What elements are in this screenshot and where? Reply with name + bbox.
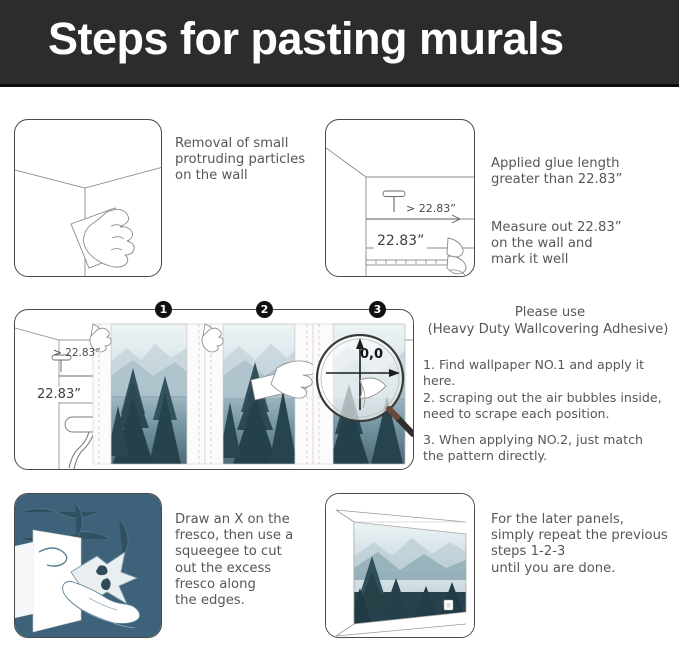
- card-finished-room: [325, 493, 475, 638]
- panel-badge-3: 3: [369, 301, 386, 318]
- text-later-panels: For the later panels, simply repeat the …: [491, 512, 679, 577]
- instruction-1: 1. Find wallpaper NO.1 and apply it here…: [423, 357, 675, 389]
- wall-corner-illustration: [15, 120, 162, 277]
- card-measure-wall: > 22.83” 22.83”: [325, 119, 475, 277]
- origin-label: 0,0: [360, 347, 383, 362]
- text-draw-x: Draw an X on the fresco, then use a sque…: [175, 512, 335, 609]
- page-title: Steps for pasting murals: [48, 13, 564, 65]
- panel-badge-2: 2: [256, 301, 273, 318]
- instruction-2: 2. scraping out the air bubbles inside, …: [423, 390, 675, 422]
- card-panel-application: > 22.83” 22.83” 0,0: [14, 309, 414, 470]
- adhesive-heading-line1: Please use: [430, 305, 670, 321]
- roller-glue-label: > 22.83”: [53, 347, 101, 359]
- card-wall-cleaning: [14, 119, 162, 277]
- tape-measure-label: 22.83”: [374, 233, 427, 249]
- text-glue-length: Applied glue length greater than 22.83”: [491, 156, 671, 188]
- measure-wall-illustration: [326, 120, 475, 277]
- squeegee-cut-illustration: [15, 494, 162, 638]
- instruction-3: 3. When applying NO.2, just match the pa…: [423, 432, 675, 464]
- page-header: Steps for pasting murals: [0, 0, 679, 87]
- panel-badge-1: 1: [155, 301, 172, 318]
- card-draw-x: [14, 493, 162, 638]
- roller-tape-label: 22.83”: [35, 387, 83, 402]
- glue-length-label: > 22.83”: [406, 202, 456, 215]
- adhesive-heading-line2: (Heavy Duty Wallcovering Adhesive): [420, 322, 676, 338]
- text-wall-cleaning: Removal of small protruding particles on…: [175, 136, 325, 185]
- text-measure-wall: Measure out 22.83” on the wall and mark …: [491, 220, 671, 269]
- finished-room-illustration: [326, 494, 475, 638]
